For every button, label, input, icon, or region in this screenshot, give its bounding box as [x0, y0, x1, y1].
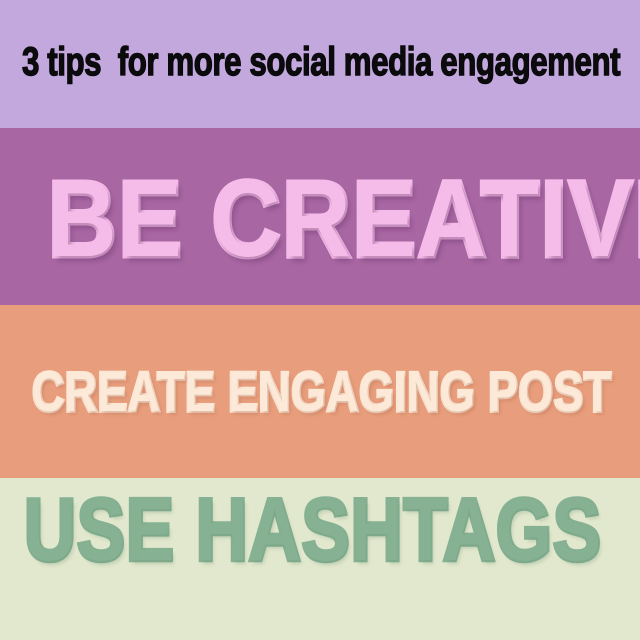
tip-label-be-creative: BE CREATIVE [48, 165, 640, 273]
header-band: 3 tips for more social media engagement [0, 0, 640, 128]
tip-label-use-hashtags: USE HASHTAGS [24, 486, 602, 574]
tip-band-be-creative: BE CREATIVE [0, 128, 640, 305]
tip-band-create-engaging-post: CREATE ENGAGING POST [0, 305, 640, 478]
tip-band-use-hashtags: USE HASHTAGS [0, 478, 640, 640]
poster-canvas: 3 tips for more social media engagement … [0, 0, 640, 640]
page-title: 3 tips for more social media engagement [22, 42, 620, 82]
tip-label-create-engaging-post: CREATE ENGAGING POST [32, 364, 612, 420]
